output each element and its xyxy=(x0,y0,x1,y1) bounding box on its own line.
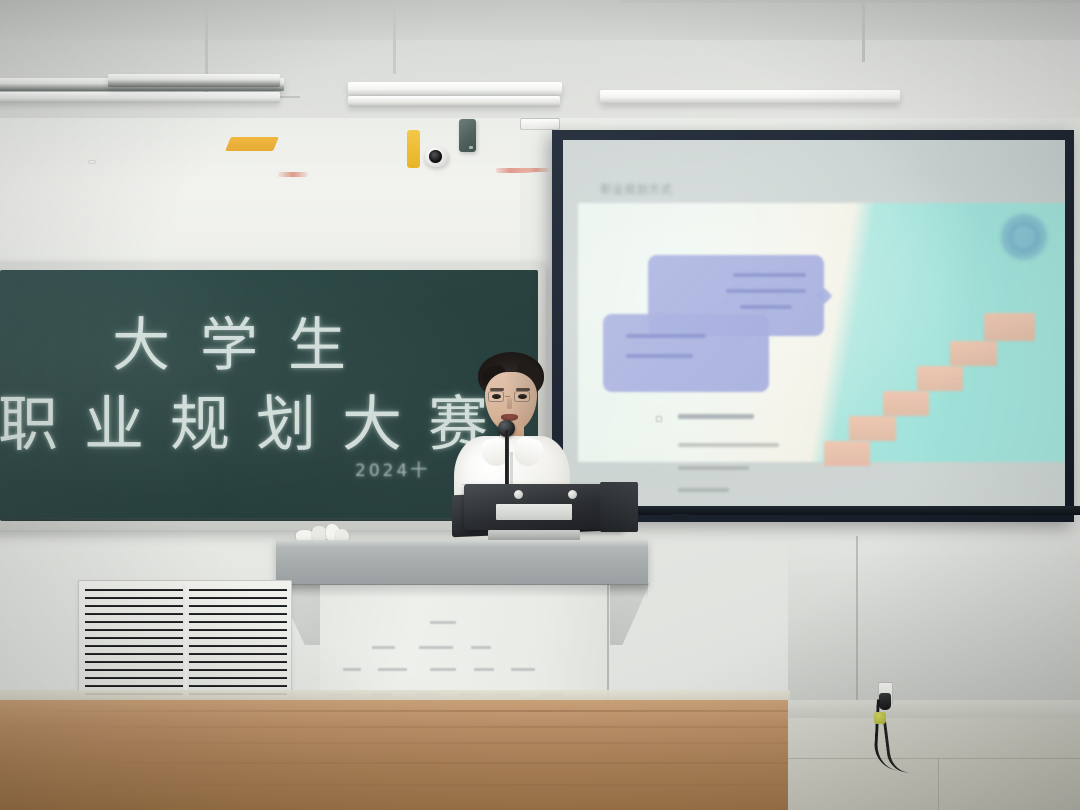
ceiling-panel xyxy=(0,0,1080,40)
ceiling-light-icon xyxy=(600,90,900,103)
ceiling-seam xyxy=(393,0,396,74)
slide-bullet-heading xyxy=(678,414,753,419)
green-plug xyxy=(874,712,886,724)
air-vent-louvers-right xyxy=(189,587,287,693)
classroom-photo: 大学生 职业规划大赛 2024十 职业规划方式 xyxy=(0,0,1080,810)
slide-bullet-line xyxy=(678,488,728,492)
air-vent-divider xyxy=(183,585,187,695)
security-camera-lens-icon xyxy=(429,150,442,163)
ceiling-light-icon xyxy=(108,74,280,87)
monitor-side-panel xyxy=(600,482,638,532)
slide-bullet-marker xyxy=(656,416,662,422)
monitor-hinge xyxy=(514,490,523,499)
presenter-nose xyxy=(507,398,512,409)
ceiling-light-icon xyxy=(348,96,560,107)
wall-sticker-pink xyxy=(523,168,549,172)
presenter-eye xyxy=(518,394,527,399)
air-vent-louvers-left xyxy=(85,587,183,693)
projection-screen-pull-tab[interactable] xyxy=(672,514,689,520)
ceiling-light-icon xyxy=(0,92,280,103)
monitor-hinge xyxy=(568,490,577,499)
blackboard-date: 2024十 xyxy=(355,456,430,481)
projection-screen-frame: 职业规划方式 xyxy=(552,130,1074,522)
right-wall-shading xyxy=(788,540,1080,710)
ceiling-seam xyxy=(620,0,1080,3)
wall-mark xyxy=(88,160,96,164)
presenter-eye xyxy=(492,394,501,399)
lectern-top-highlight xyxy=(276,540,648,547)
slide-stair-graphic xyxy=(849,288,1060,466)
blackboard-title-line1: 大学生 xyxy=(112,298,376,382)
wall-conduit xyxy=(856,536,858,704)
ceiling-light-icon xyxy=(348,82,562,95)
ceiling-light-end-cap xyxy=(520,118,560,130)
projection-screen: 职业规划方式 xyxy=(563,140,1065,510)
tile-floor xyxy=(788,718,1080,810)
blackboard-title-line2: 职业规划大赛 xyxy=(0,376,514,463)
wall-sticker-yellow xyxy=(407,130,420,168)
wall-speaker-icon xyxy=(459,119,476,152)
air-vent xyxy=(78,580,292,700)
wall-sticker-pink xyxy=(278,172,308,177)
eyeglasses-bridge-icon xyxy=(505,396,510,397)
slide-bullet-line xyxy=(678,466,748,470)
lectern-monitor[interactable] xyxy=(452,478,638,544)
slide-bubble-secondary xyxy=(603,314,769,392)
lectern-shadow xyxy=(276,584,648,598)
ceiling-seam xyxy=(862,0,865,62)
slide-bullet-line xyxy=(678,443,778,447)
slide-title: 职业规划方式 xyxy=(601,181,673,197)
monitor-inner-panel xyxy=(496,504,572,520)
wall-sticker-orange xyxy=(225,137,279,151)
